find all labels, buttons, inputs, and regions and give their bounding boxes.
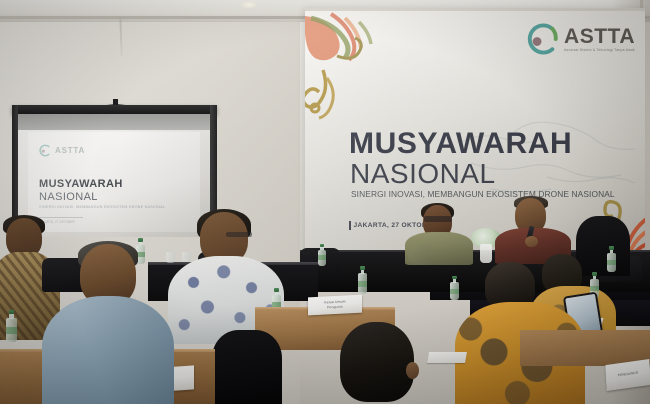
- water-bottle-icon: [358, 266, 367, 294]
- water-bottle-icon: [318, 244, 326, 266]
- date-accent-bar: [349, 221, 351, 230]
- attendee-center-dark-head: [340, 322, 414, 402]
- placard-front-right-line1: PENGURUS: [618, 371, 639, 379]
- speaker-left-arm: [408, 245, 430, 265]
- conference-room-photo: ASTTA MUSYAWARAH NASIONAL SINERGI INOVAS…: [0, 0, 650, 404]
- banner-logo-tagline: Asosiasi Sistem & Teknologi Tanpa Awak: [564, 49, 635, 52]
- floral-batik-corner-icon: [305, 12, 379, 127]
- eyeglasses-icon: [424, 216, 452, 222]
- attendee-center-dark-ear: [406, 362, 419, 379]
- placard-center-line2: Pengurus: [327, 305, 343, 311]
- speaker-left: [405, 205, 473, 263]
- flower-vase: [476, 228, 496, 262]
- slide-title-line2: NASIONAL: [39, 192, 98, 203]
- banner-heading-line2: NASIONAL: [350, 160, 496, 188]
- water-bottle-icon: [6, 310, 17, 342]
- ceiling-downlight-icon: [241, 1, 257, 8]
- attendee-center-dark: [318, 322, 438, 404]
- astta-swoosh-icon: [39, 144, 52, 157]
- slide-title-line1: MUSYAWARAH: [39, 179, 123, 190]
- speaker-right-hand: [525, 236, 538, 247]
- banner-top-rail: [305, 8, 645, 11]
- vase-body: [480, 244, 492, 263]
- eyeglasses-icon: [226, 232, 252, 237]
- slide-subtitle: SINERGI INOVASI, MEMBANGUN EKOSISTEM DRO…: [39, 205, 179, 209]
- astta-swoosh-icon: [526, 22, 560, 56]
- attendee-silhouette-center: [212, 330, 282, 404]
- screen-top-bar: [12, 105, 217, 114]
- banner-logo: ASTTA Asosiasi Sistem & Teknologi Tanpa …: [526, 22, 635, 56]
- banner-heading-line1: MUSYAWARAH: [349, 129, 572, 159]
- attendee-blue-shirt-shading: [42, 296, 174, 404]
- screen-header-band: [18, 114, 210, 130]
- slide-logo-text: ASTTA: [55, 146, 85, 155]
- slide-logo: ASTTA: [39, 144, 85, 157]
- banner-subtitle: SINERGI INOVASI, MEMBANGUN EKOSISTEM DRO…: [351, 189, 615, 199]
- attendee-blue-shirt: [42, 244, 174, 404]
- banner-logo-text: ASTTA: [564, 26, 635, 47]
- placard-center: Ketua Umum Pengurus: [308, 295, 362, 316]
